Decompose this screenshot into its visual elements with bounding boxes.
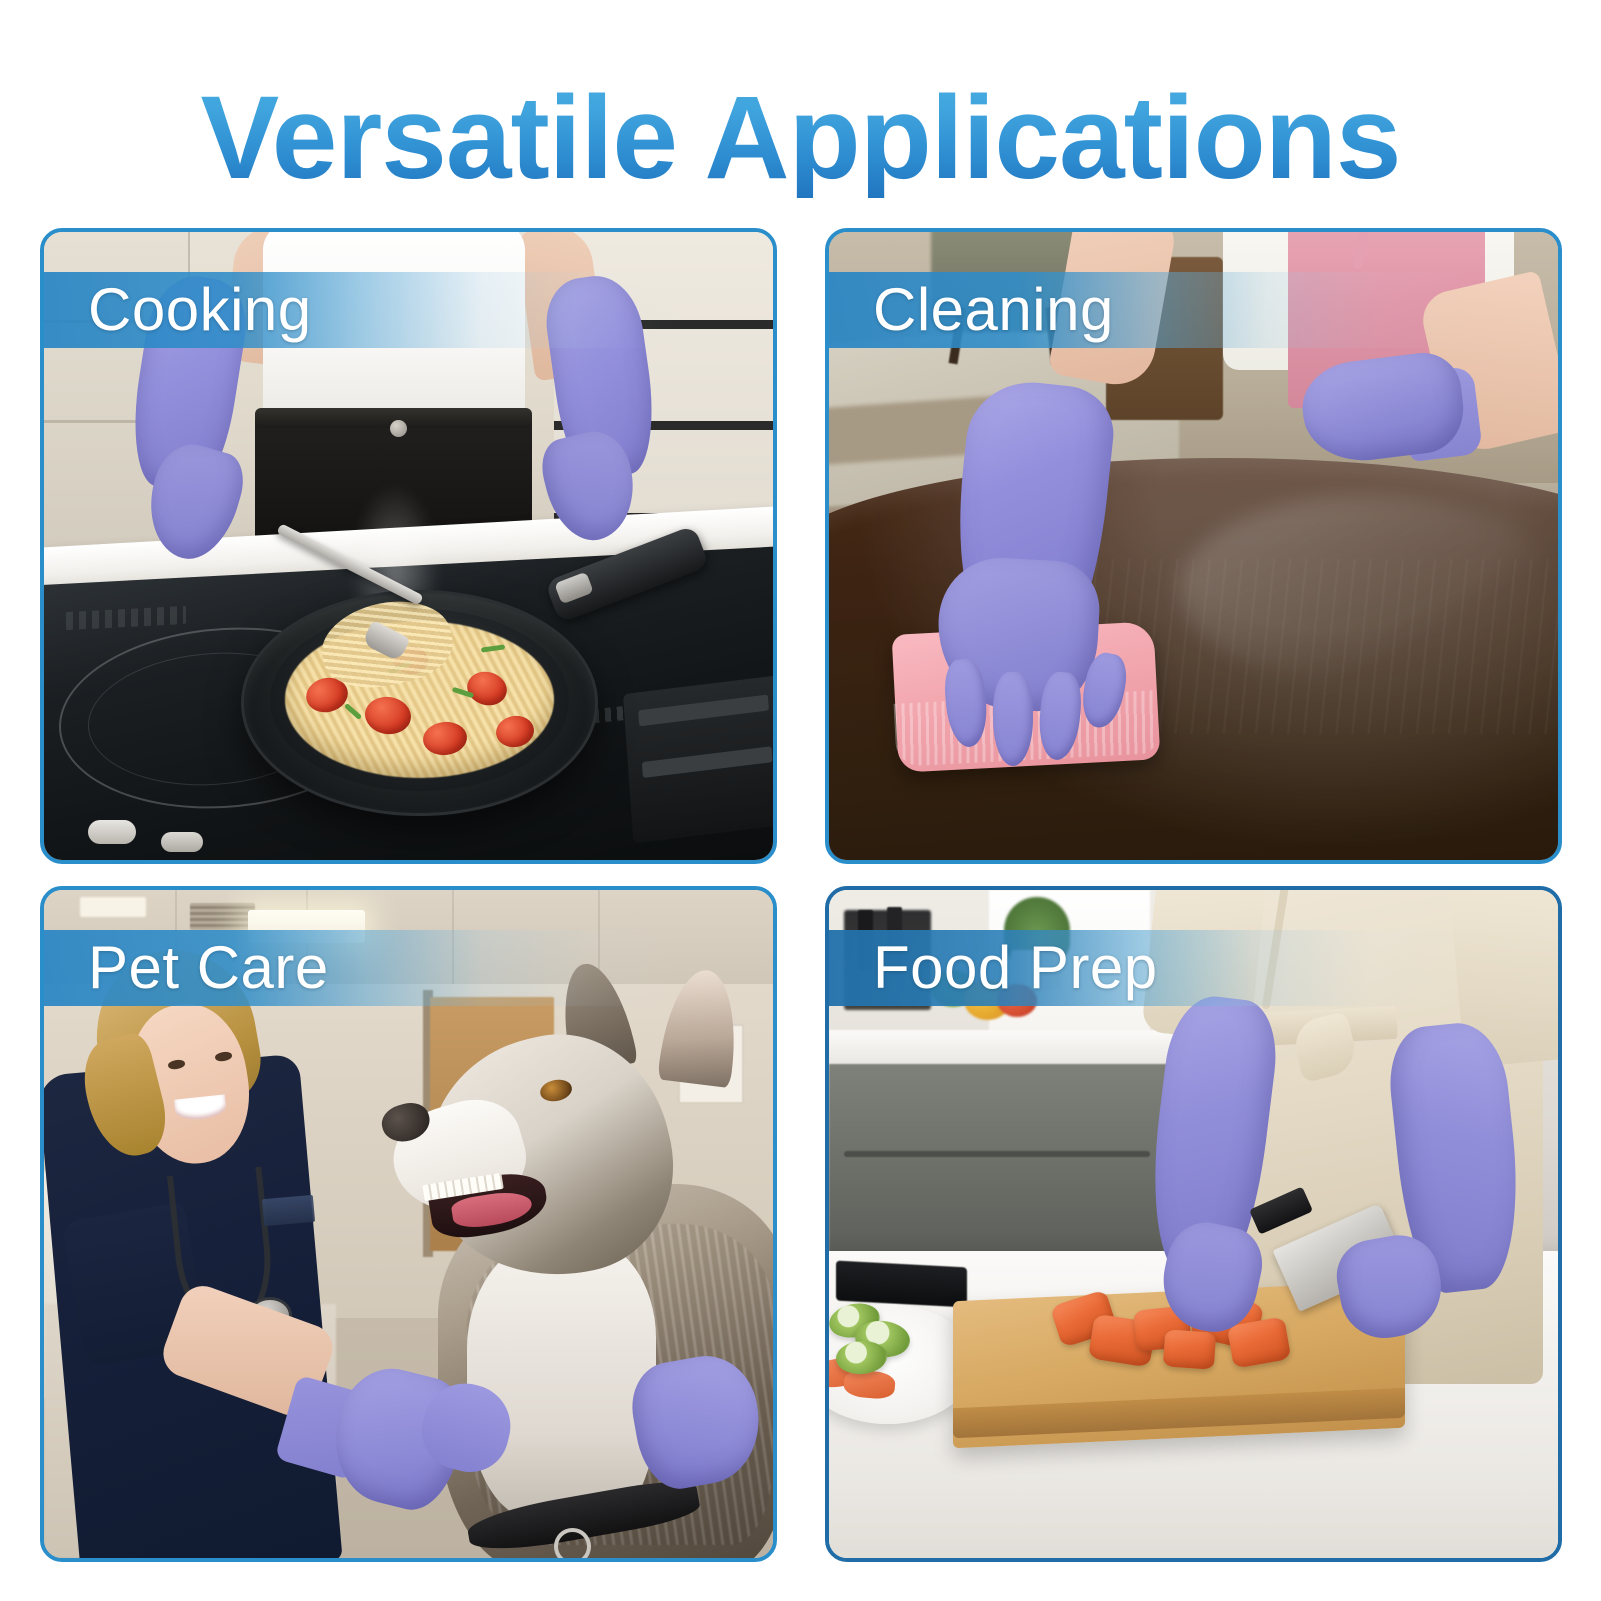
panel-food-prep[interactable]: Food Prep <box>825 886 1562 1562</box>
page-title: Versatile Applications <box>201 78 1401 198</box>
infographic-page: Versatile Applications <box>0 0 1601 1601</box>
panel-label-food-prep: Food Prep <box>829 938 1158 998</box>
application-grid: Cooking <box>40 228 1562 1562</box>
panel-label-cleaning: Cleaning <box>829 280 1114 340</box>
panel-label-cooking: Cooking <box>44 280 312 340</box>
panel-label-pet-care: Pet Care <box>44 938 329 998</box>
panel-cooking[interactable]: Cooking <box>40 228 777 864</box>
label-banner-food-prep: Food Prep <box>829 930 1558 1006</box>
label-banner-cooking: Cooking <box>44 272 773 348</box>
label-banner-pet-care: Pet Care <box>44 930 773 1006</box>
panel-pet-care[interactable]: Pet Care <box>40 886 777 1562</box>
title-area: Versatile Applications <box>0 78 1601 198</box>
panel-cleaning[interactable]: Cleaning <box>825 228 1562 864</box>
label-banner-cleaning: Cleaning <box>829 272 1558 348</box>
